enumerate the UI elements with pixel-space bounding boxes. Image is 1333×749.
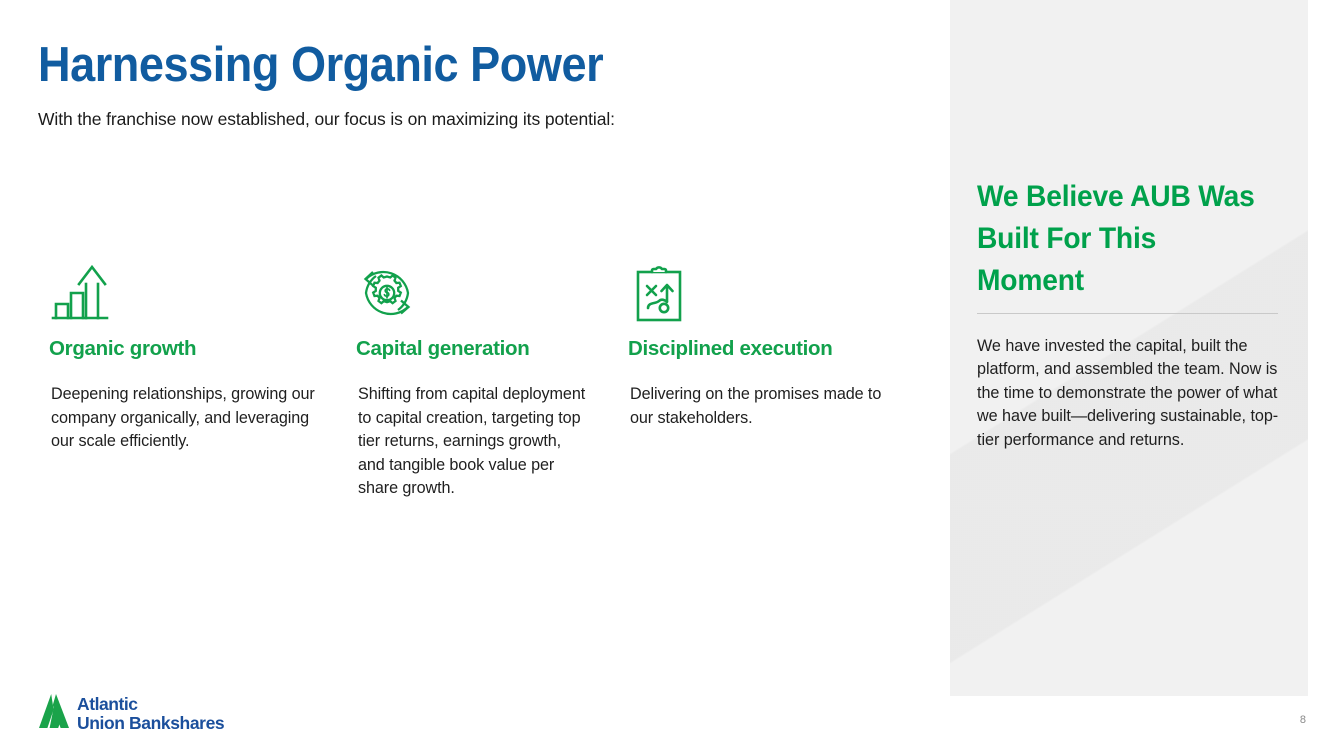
side-panel-body: We have invested the capital, built the … [977,335,1279,452]
side-panel-divider [977,313,1278,314]
logo-line-2: Union Bankshares [77,713,224,733]
pillar-capital-generation: Capital generation Shifting from capital… [345,262,617,501]
page-subtitle: With the franchise now established, our … [38,106,918,132]
page-title: Harnessing Organic Power [38,36,848,94]
side-panel: We Believe AUB Was Built For This Moment… [950,0,1308,696]
clipboard-strategy-play-icon [628,262,889,324]
slide: Harnessing Organic Power With the franch… [0,0,1333,749]
pillar-organic-growth: Organic growth Deepening relationships, … [38,262,345,454]
bar-chart-growth-arrow-icon [49,262,317,324]
pillar-heading: Capital generation [356,336,589,362]
pillar-heading: Disciplined execution [628,336,889,362]
atlantic-union-triangle-mark-icon [38,691,70,736]
pillar-disciplined-execution: Disciplined execution Delivering on the … [617,262,917,430]
logo-wordmark: Atlantic Union Bankshares [77,695,224,733]
company-logo: Atlantic Union Bankshares [38,691,224,736]
pillars-row: Organic growth Deepening relationships, … [38,262,918,501]
pillar-heading: Organic growth [49,336,317,362]
logo-line-1: Atlantic [77,694,138,714]
pillar-body: Deepening relationships, growing our com… [51,383,317,454]
side-panel-heading: We Believe AUB Was Built For This Moment [977,176,1259,302]
pillar-body: Shifting from capital deployment to capi… [358,383,589,501]
recycle-gear-dollar-icon [356,262,589,324]
pillar-body: Delivering on the promises made to our s… [630,383,889,430]
page-number: 8 [1300,714,1306,726]
